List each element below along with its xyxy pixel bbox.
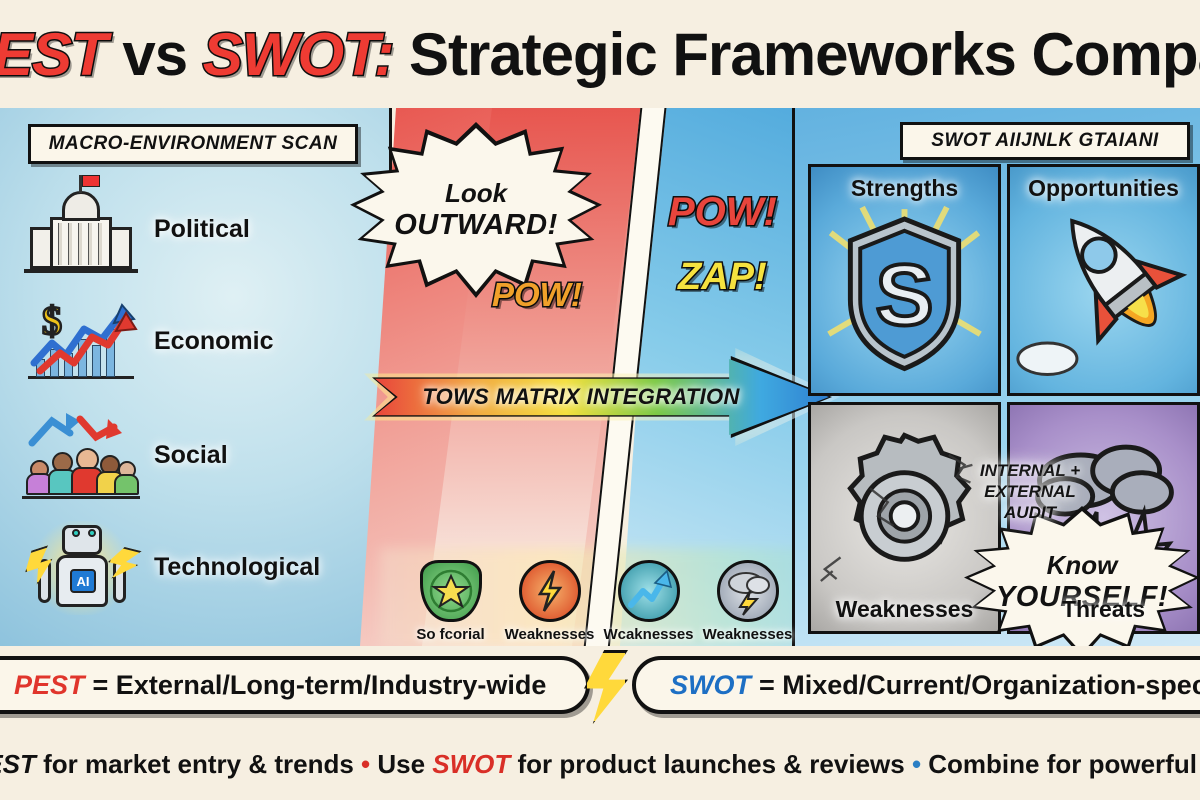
swot-definition-pill: SWOT = Mixed/Current/Organization-specif… bbox=[632, 656, 1200, 714]
footer-seg1: for market entry & trends bbox=[36, 749, 361, 779]
sfx-pow-red: POW! bbox=[668, 190, 777, 235]
svg-text:S: S bbox=[876, 247, 934, 343]
footer-bullet-1: • bbox=[361, 749, 370, 779]
pest-label-political: Political bbox=[154, 215, 250, 244]
sfx-pow-orange: POW! bbox=[492, 276, 582, 314]
swot-quadrant-strengths: Strengths S bbox=[808, 164, 1001, 396]
shield-star-badge-icon bbox=[420, 560, 482, 622]
burst-know-line1: Know bbox=[1047, 550, 1118, 581]
mid-item-1: Weaknesses bbox=[503, 560, 596, 646]
page-title: PEST vs SWOT: Strategic Frameworks Compa… bbox=[0, 20, 1200, 90]
footer-tips-bar: PEST for market entry & trends • Use SWO… bbox=[0, 728, 1200, 800]
title-vs: vs bbox=[107, 21, 203, 88]
title-rest: Strategic Frameworks Compared bbox=[393, 21, 1200, 88]
mid-label-0: So fcorial bbox=[416, 626, 484, 643]
mid-label-1: Weaknesses bbox=[505, 626, 595, 643]
burst-outward-line2: OUTWARD! bbox=[394, 209, 557, 242]
pest-definition-text: = External/Long-term/Industry-wide bbox=[93, 670, 547, 701]
mid-label-3: Weaknesses bbox=[703, 626, 793, 643]
mid-item-3: Weaknesses bbox=[701, 560, 794, 646]
title-bar: PEST vs SWOT: Strategic Frameworks Compa… bbox=[0, 0, 1200, 108]
pest-label-social: Social bbox=[154, 441, 228, 470]
pest-row-economic: $ Economic bbox=[22, 286, 382, 396]
pest-label-economic: Economic bbox=[154, 327, 273, 356]
footer-seg3: Combine for powerful strategy bbox=[921, 749, 1200, 779]
mid-item-0: So fcorial bbox=[404, 560, 497, 646]
pest-row-social: Social bbox=[22, 400, 382, 510]
swot-analysis-banner: SWOT AIIJNLK GTAIANI bbox=[900, 122, 1190, 160]
footer-pest-tag: PEST bbox=[0, 749, 36, 779]
tows-matrix-arrow: TOWS MATRIX INTEGRATION bbox=[372, 356, 832, 438]
mid-item-2: Wcaknesses bbox=[602, 560, 695, 646]
pest-label-technological: Technological bbox=[154, 553, 320, 582]
footer-text: PEST for market entry & trends • Use SWO… bbox=[0, 749, 1200, 780]
trend-arrow-circle-icon bbox=[618, 560, 680, 622]
footer-seg2: for product launches & reviews bbox=[510, 749, 912, 779]
comparison-board: MACRO-ENVIRONMENT SCAN Political bbox=[0, 108, 1200, 646]
ai-robot-icon: AI bbox=[22, 517, 140, 617]
pest-row-political: Political bbox=[22, 174, 382, 284]
growth-chart-dollar-icon: $ bbox=[22, 291, 140, 391]
mid-label-2: Wcaknesses bbox=[603, 626, 693, 643]
quadrant-label-weaknesses: Weaknesses bbox=[811, 596, 998, 623]
quadrant-label-opportunities: Opportunities bbox=[1010, 175, 1197, 202]
sfx-zap-yellow: ZAP! bbox=[678, 256, 767, 299]
quadrant-label-strengths: Strengths bbox=[811, 175, 998, 202]
tows-icon-strip: So fcorial Weaknesses Wcaknesses bbox=[404, 560, 794, 646]
infographic-canvas: PEST vs SWOT: Strategic Frameworks Compa… bbox=[0, 0, 1200, 800]
pest-definition-pill: PEST = External/Long-term/Industry-wide bbox=[0, 656, 590, 714]
quadrant-label-threats: Threats bbox=[1010, 596, 1197, 623]
swot-quadrant-opportunities: Opportunities bbox=[1007, 164, 1200, 396]
footer-bullet-2: • bbox=[912, 749, 921, 779]
ai-chip-label: AI bbox=[70, 569, 96, 593]
comparison-pill-band: PEST = External/Long-term/Industry-wide … bbox=[0, 646, 1200, 728]
footer-seg2-pre: Use bbox=[370, 749, 432, 779]
swot-tag: SWOT bbox=[670, 670, 751, 701]
lightning-burst-icon bbox=[519, 560, 581, 622]
tows-arrow-label: TOWS MATRIX INTEGRATION bbox=[406, 356, 756, 438]
footer-swot-tag: SWOT bbox=[432, 749, 510, 779]
crowd-people-icon bbox=[22, 405, 140, 505]
storm-cloud-bolt-icon bbox=[717, 560, 779, 622]
government-building-icon bbox=[22, 179, 140, 279]
burst-outward-line1: Look bbox=[445, 178, 507, 209]
pest-tag: PEST bbox=[14, 670, 85, 701]
internal-external-audit-label: INTERNAL + EXTERNAL AUDIT bbox=[962, 460, 1098, 523]
title-pest: PEST bbox=[0, 21, 107, 88]
pest-row-technological: AI Technological bbox=[22, 512, 382, 622]
lightning-bolt-icon bbox=[584, 650, 628, 724]
swot-definition-text: = Mixed/Current/Organization-specific bbox=[759, 670, 1200, 701]
title-swot: SWOT: bbox=[203, 21, 394, 88]
macro-environment-banner: MACRO-ENVIRONMENT SCAN bbox=[28, 124, 358, 164]
